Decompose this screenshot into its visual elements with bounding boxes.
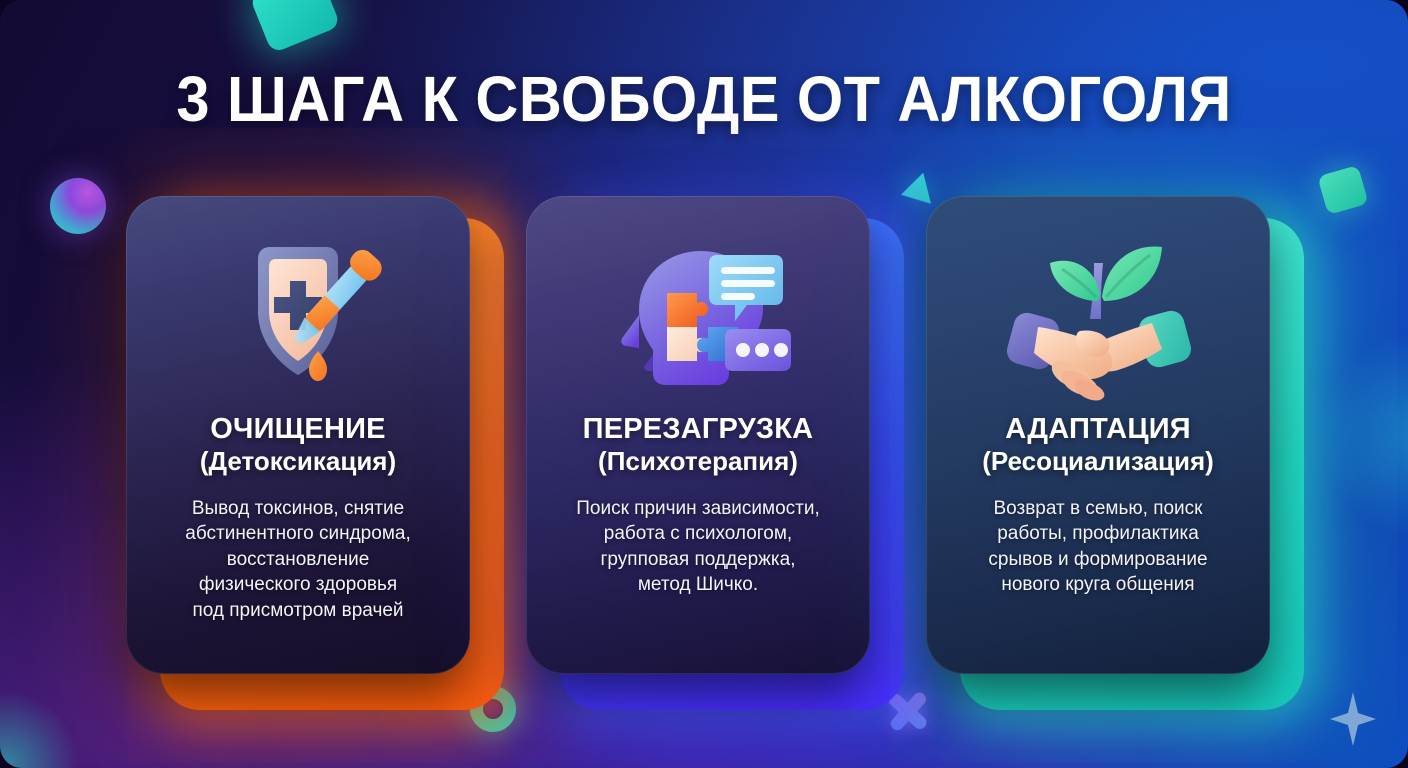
- shield-dropper-icon: [148, 226, 448, 412]
- step-card-cleansing[interactable]: ОЧИЩЕНИЕ (Детоксикация) Вывод токсинов, …: [126, 196, 482, 696]
- page-title: 3 ШАГА К СВОБОДЕ ОТ АЛКОГОЛЯ: [49, 62, 1358, 136]
- infographic-canvas: 3 ШАГА К СВОБОДЕ ОТ АЛКОГОЛЯ: [0, 0, 1408, 768]
- card-subtitle: (Ресоциализация): [982, 447, 1214, 476]
- card-title: ПЕРЕЗАГРУЗКА: [583, 414, 814, 445]
- card-subtitle: (Психотерапия): [598, 447, 798, 476]
- card-title: АДАПТАЦИЯ: [1005, 414, 1191, 445]
- card-description: Вывод токсинов, снятие абстинентного син…: [179, 496, 416, 623]
- step-card-reboot[interactable]: ПЕРЕЗАГРУЗКА (Психотерапия) Поиск причин…: [526, 196, 882, 696]
- card-subtitle: (Детоксикация): [200, 447, 396, 476]
- card-description: Поиск причин зависимости, работа с психо…: [570, 496, 826, 598]
- steps-card-row: ОЧИЩЕНИЕ (Детоксикация) Вывод токсинов, …: [0, 196, 1408, 696]
- card-body: ОЧИЩЕНИЕ (Детоксикация) Вывод токсинов, …: [126, 196, 470, 674]
- step-card-adaptation[interactable]: АДАПТАЦИЯ (Ресоциализация) Возврат в сем…: [926, 196, 1282, 696]
- card-body: АДАПТАЦИЯ (Ресоциализация) Возврат в сем…: [926, 196, 1270, 674]
- teal-square-top-icon: [249, 0, 341, 54]
- card-body: ПЕРЕЗАГРУЗКА (Психотерапия) Поиск причин…: [526, 196, 870, 674]
- teal-glow-left-decoration: [0, 690, 80, 768]
- head-puzzle-chat-icon: [548, 226, 848, 412]
- handshake-sprout-icon: [948, 226, 1248, 412]
- sparkle-star-icon: [1330, 692, 1376, 746]
- card-title: ОЧИЩЕНИЕ: [210, 414, 385, 445]
- card-description: Возврат в семью, поиск работы, профилакт…: [982, 496, 1213, 598]
